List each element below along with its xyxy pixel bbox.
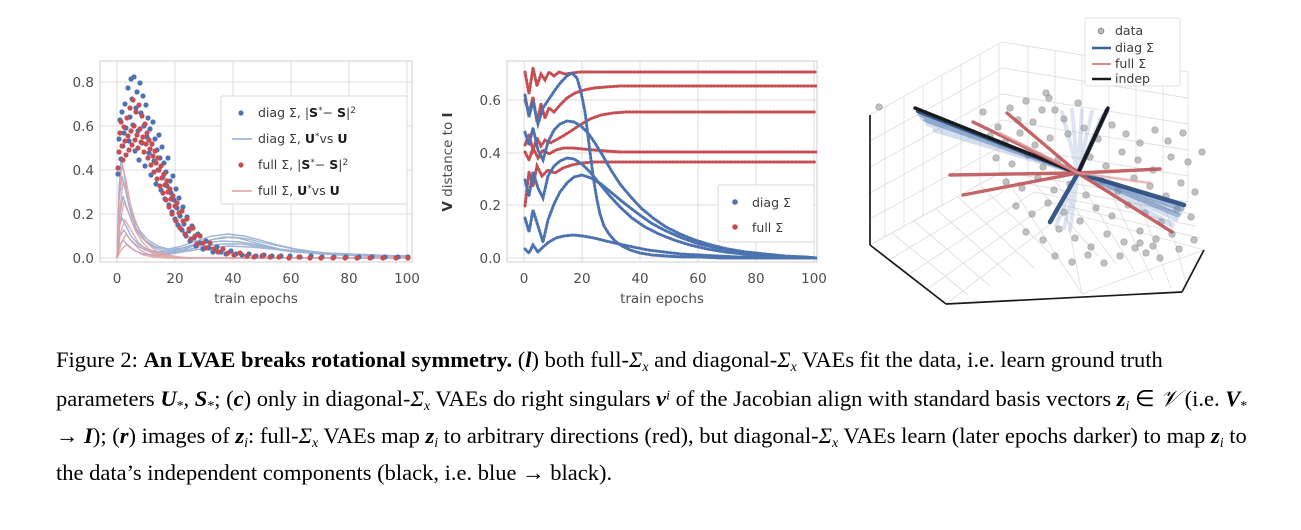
center-xtick-3: 60 (689, 271, 706, 287)
right-legend-label-2: full Σ (1115, 56, 1146, 71)
center-ytick-0: 0.6 (480, 93, 501, 109)
left-ytick-0: 0.8 (73, 75, 94, 91)
center-xtick-1: 20 (573, 271, 590, 287)
left-legend-label-2: full Σ, |S*− S|2 (258, 157, 348, 172)
legend-dot-icon (238, 110, 243, 115)
right-legend[interactable]: data diag Σ full Σ indep (1085, 18, 1180, 86)
left-legend-label-1: diag Σ, U*vs U (258, 131, 348, 146)
left-legend-label-0: diag Σ, |S*− S|2 (258, 105, 356, 120)
left-ytick-4: 0.0 (73, 251, 94, 267)
right-panel: data diag Σ full Σ indep (850, 0, 1301, 330)
left-y-tick-labels: 0.8 0.6 0.4 0.2 0.0 (73, 75, 94, 267)
figure-caption: Figure 2: An LVAE breaks rotational symm… (56, 345, 1248, 487)
left-ytick-2: 0.4 (73, 163, 94, 179)
caption-figure-number: Figure 2: (56, 347, 138, 372)
center-xtick-5: 100 (801, 271, 827, 287)
legend-dot-icon (732, 224, 738, 230)
left-x-tick-labels: 0 20 40 60 80 100 (113, 271, 420, 287)
svg-text:V distance to I: V distance to I (440, 112, 456, 211)
legend-dot-icon (238, 162, 243, 167)
left-xtick-4: 80 (340, 271, 357, 287)
legend-dot-icon (1098, 28, 1104, 34)
left-panel-svg: 0.8 0.6 0.4 0.2 0.0 0 20 40 60 80 100 tr… (0, 0, 440, 330)
center-xtick-4: 80 (747, 271, 764, 287)
left-xtick-1: 20 (166, 271, 183, 287)
right-legend-label-0: data (1115, 23, 1143, 38)
center-panel: 0.6 0.4 0.2 0.0 0 20 40 60 80 100 train … (430, 0, 850, 330)
left-ytick-1: 0.6 (73, 119, 94, 135)
left-xtick-3: 60 (282, 271, 299, 287)
left-xtick-2: 40 (224, 271, 241, 287)
center-legend-label-0: diag Σ (752, 195, 791, 210)
right-panel-svg: data diag Σ full Σ indep (850, 0, 1301, 330)
center-xaxis-label: train epochs (620, 291, 704, 307)
caption-title: An LVAE breaks rotational symmetry. (144, 347, 513, 372)
center-xtick-2: 40 (631, 271, 648, 287)
left-xtick-0: 0 (113, 271, 122, 287)
center-ytick-1: 0.4 (480, 146, 501, 162)
center-panel-svg: 0.6 0.4 0.2 0.0 0 20 40 60 80 100 train … (430, 0, 850, 330)
left-legend-label-3: full Σ, U*vs U (258, 183, 340, 198)
center-legend-label-1: full Σ (752, 220, 783, 235)
right-legend-label-1: diag Σ (1115, 40, 1154, 55)
left-panel: 0.8 0.6 0.4 0.2 0.0 0 20 40 60 80 100 tr… (0, 0, 440, 330)
left-xtick-5: 100 (394, 271, 420, 287)
center-y-tick-labels: 0.6 0.4 0.2 0.0 (480, 93, 501, 267)
center-xtick-0: 0 (520, 271, 529, 287)
left-ytick-3: 0.2 (73, 207, 94, 223)
center-x-tick-labels: 0 20 40 60 80 100 (520, 271, 827, 287)
center-ytick-2: 0.2 (480, 198, 501, 214)
figure-container: 0.8 0.6 0.4 0.2 0.0 0 20 40 60 80 100 tr… (0, 0, 1301, 530)
left-legend[interactable]: diag Σ, |S*− S|2 diag Σ, U*vs U full Σ, … (221, 96, 407, 204)
left-xaxis-label: train epochs (214, 291, 298, 307)
right-legend-label-3: indep (1115, 71, 1150, 86)
center-yaxis-label: V distance to I (440, 112, 456, 211)
center-ytick-3: 0.0 (480, 251, 501, 267)
center-legend[interactable]: diag Σ full Σ (718, 185, 814, 242)
legend-dot-icon (732, 199, 738, 205)
